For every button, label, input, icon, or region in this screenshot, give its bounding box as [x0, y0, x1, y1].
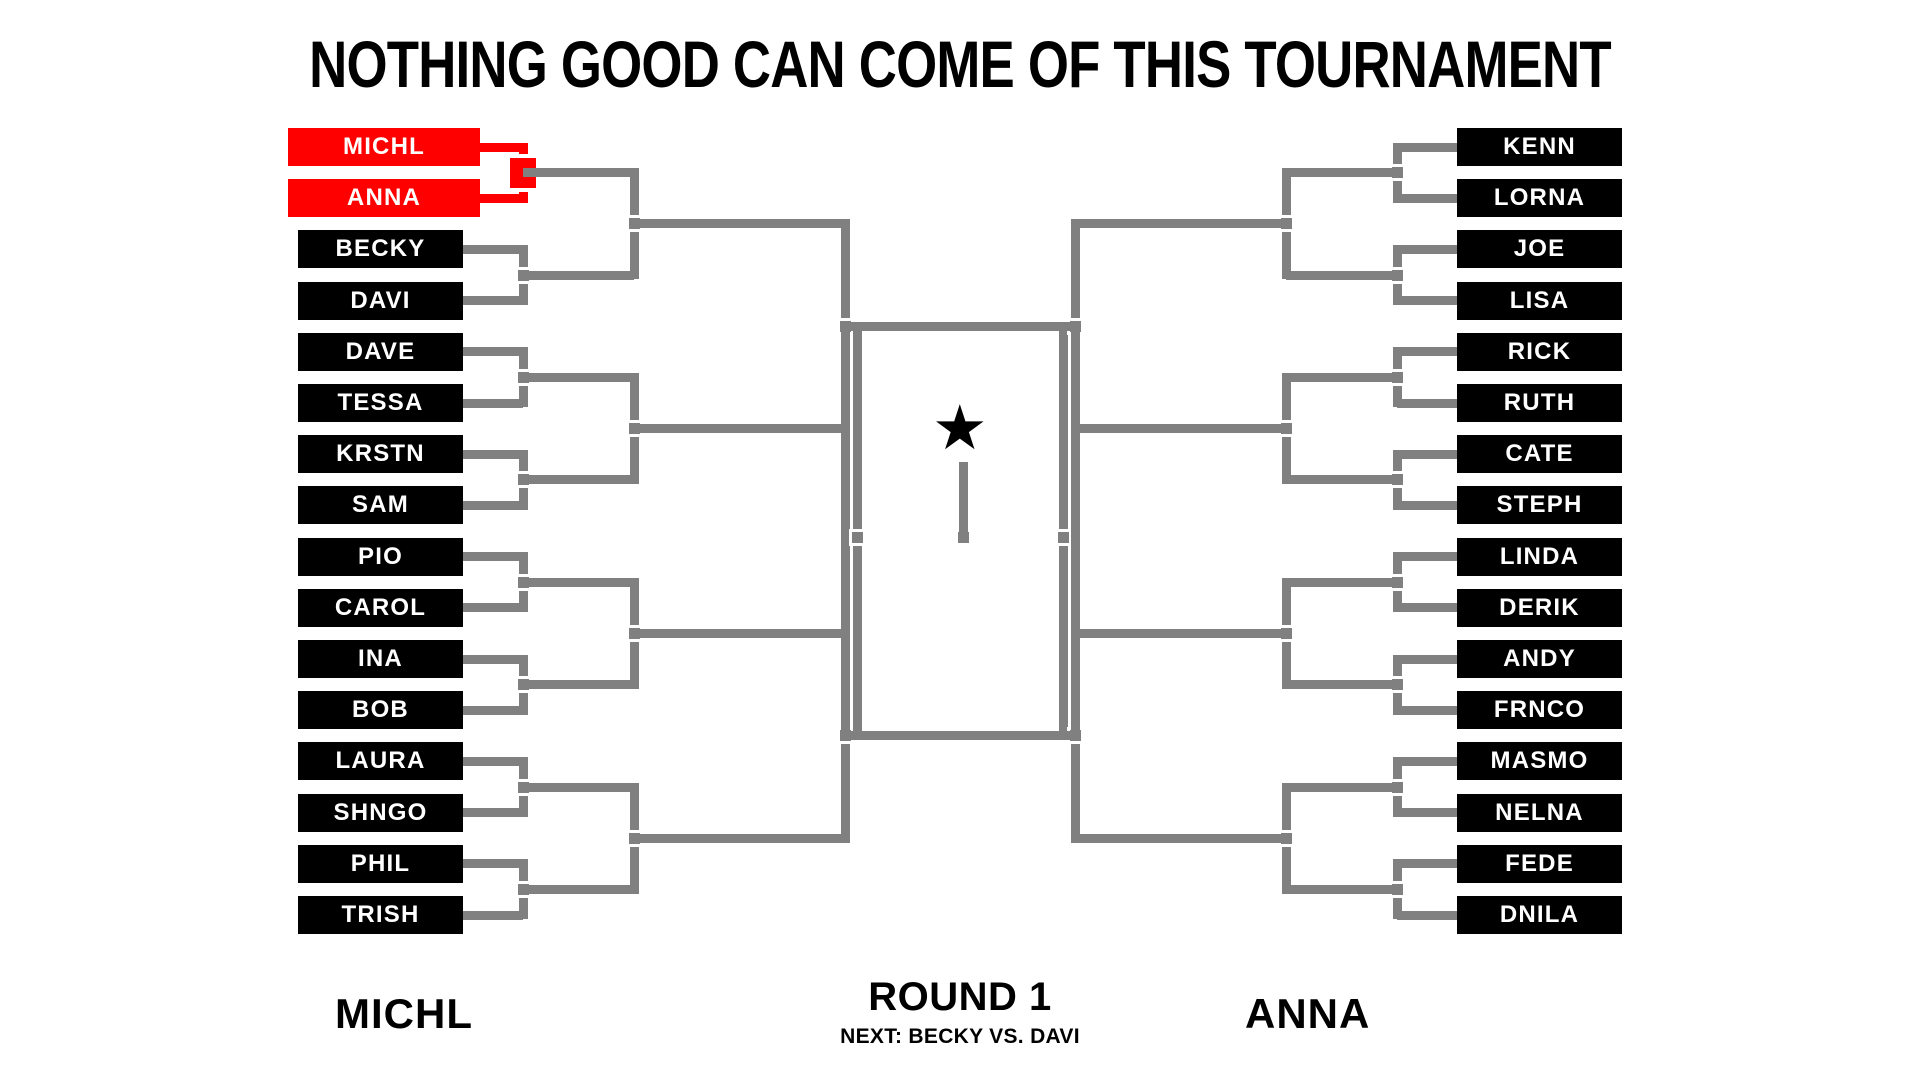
champion-node[interactable]	[958, 532, 969, 543]
bracket-line-horizontal	[1397, 655, 1457, 664]
bracket-line-horizontal	[1397, 347, 1457, 356]
bracket-line-horizontal	[1397, 706, 1457, 715]
bracket-line-horizontal	[1286, 680, 1397, 689]
bracket-line-horizontal	[1286, 271, 1397, 280]
competitor-plate[interactable]: RUTH	[1457, 384, 1622, 422]
page-title: NOTHING GOOD CAN COME OF THIS TOURNAMENT	[192, 30, 1728, 98]
competitor-plate[interactable]: STEPH	[1457, 486, 1622, 524]
bracket-line-horizontal	[523, 373, 634, 382]
bracket-line-horizontal	[463, 808, 523, 817]
competitor-plate[interactable]: SHNGO	[298, 794, 463, 832]
bracket-line-horizontal	[480, 194, 523, 203]
competitor-plate[interactable]: FEDE	[1457, 845, 1622, 883]
bracket-line-horizontal	[1397, 757, 1457, 766]
competitor-plate[interactable]: DAVI	[298, 282, 463, 320]
competitor-plate[interactable]: CAROL	[298, 589, 463, 627]
bracket-line-horizontal	[1397, 552, 1457, 561]
bracket-line-horizontal	[523, 885, 634, 894]
bracket-line-horizontal	[523, 271, 634, 280]
bracket-line-horizontal	[1286, 168, 1397, 177]
competitor-plate[interactable]: JOE	[1457, 230, 1622, 268]
bracket-line-horizontal	[463, 859, 523, 868]
bracket-line-horizontal	[1397, 808, 1457, 817]
tournament-bracket-page: NOTHING GOOD CAN COME OF THIS TOURNAMENT…	[0, 0, 1920, 1080]
bracket-line-horizontal	[463, 552, 523, 561]
bracket-line-horizontal	[463, 399, 523, 408]
bracket-line-horizontal	[463, 655, 523, 664]
bracket-line-horizontal	[1397, 143, 1457, 152]
bracket-line-horizontal	[523, 475, 634, 484]
competitor-plate[interactable]: BOB	[298, 691, 463, 729]
competitor-plate[interactable]: PIO	[298, 538, 463, 576]
bracket-line-horizontal	[463, 757, 523, 766]
competitor-plate[interactable]: TESSA	[298, 384, 463, 422]
competitor-plate[interactable]: MASMO	[1457, 742, 1622, 780]
bracket-line-horizontal	[634, 424, 845, 433]
competitor-plate[interactable]: NELNA	[1457, 794, 1622, 832]
competitor-plate[interactable]: MICHL	[288, 128, 480, 166]
bracket-line-horizontal	[463, 706, 523, 715]
bracket-line-horizontal	[1397, 245, 1457, 254]
bracket-line-horizontal	[1397, 859, 1457, 868]
competitor-plate[interactable]: KRSTN	[298, 435, 463, 473]
bracket-line-horizontal	[1286, 373, 1397, 382]
champion-stem	[959, 462, 968, 533]
bracket-line-horizontal	[1397, 450, 1457, 459]
competitor-plate[interactable]: DERIK	[1457, 589, 1622, 627]
competitor-plate[interactable]: SAM	[298, 486, 463, 524]
bracket-line-horizontal	[857, 731, 1075, 740]
right-finalist-node[interactable]	[852, 532, 863, 543]
bracket-line-horizontal	[634, 219, 845, 228]
competitor-plate[interactable]: FRNCO	[1457, 691, 1622, 729]
bracket-line-horizontal	[1286, 783, 1397, 792]
bracket-line-horizontal	[1397, 194, 1457, 203]
bracket-line-horizontal	[463, 245, 523, 254]
bracket-line-horizontal	[463, 296, 523, 305]
bracket-line-horizontal	[523, 680, 634, 689]
competitor-plate[interactable]: TRISH	[298, 896, 463, 934]
competitor-plate[interactable]: LISA	[1457, 282, 1622, 320]
bracket-line-horizontal	[1075, 834, 1286, 843]
competitor-plate[interactable]: DAVE	[298, 333, 463, 371]
bracket-line-horizontal	[1397, 911, 1457, 920]
competitor-plate[interactable]: LORNA	[1457, 179, 1622, 217]
bracket-line-horizontal	[1397, 296, 1457, 305]
bracket-line-horizontal	[1397, 399, 1457, 408]
bracket-line-horizontal	[463, 911, 523, 920]
competitor-plate[interactable]: LAURA	[298, 742, 463, 780]
bracket-line-horizontal	[523, 783, 634, 792]
bracket-line-horizontal	[480, 143, 523, 152]
star-icon: ★	[932, 398, 988, 460]
competitor-plate[interactable]: LINDA	[1457, 538, 1622, 576]
competitor-plate[interactable]: BECKY	[298, 230, 463, 268]
competitor-plate[interactable]: ANNA	[288, 179, 480, 217]
bracket-line-horizontal	[857, 322, 1075, 331]
bracket-line-horizontal	[463, 450, 523, 459]
competitor-plate[interactable]: KENN	[1457, 128, 1622, 166]
bracket-line-horizontal	[634, 629, 845, 638]
bracket-line-horizontal	[1075, 629, 1286, 638]
bracket-line-horizontal	[463, 347, 523, 356]
bracket-line-vertical	[841, 322, 850, 741]
competitor-plate[interactable]: CATE	[1457, 435, 1622, 473]
bracket-line-horizontal	[523, 168, 634, 177]
bracket-line-horizontal	[463, 603, 523, 612]
bracket-line-horizontal	[1286, 475, 1397, 484]
bracket-line-horizontal	[1286, 885, 1397, 894]
round-label: ROUND 1	[0, 975, 1920, 1020]
bracket-line-vertical	[1071, 322, 1080, 741]
bracket-line-horizontal	[463, 501, 523, 510]
competitor-plate[interactable]: INA	[298, 640, 463, 678]
next-match-label: NEXT: BECKY VS. DAVI	[0, 1025, 1920, 1049]
competitor-plate[interactable]: ANDY	[1457, 640, 1622, 678]
left-finalist-node[interactable]	[1058, 532, 1069, 543]
bracket-line-horizontal	[523, 578, 634, 587]
bracket-line-horizontal	[634, 834, 845, 843]
bracket-line-horizontal	[1397, 501, 1457, 510]
competitor-plate[interactable]: DNILA	[1457, 896, 1622, 934]
competitor-plate[interactable]: RICK	[1457, 333, 1622, 371]
bracket-line-horizontal	[1075, 219, 1286, 228]
bracket-line-horizontal	[1397, 603, 1457, 612]
bracket-line-horizontal	[1075, 424, 1286, 433]
competitor-plate[interactable]: PHIL	[298, 845, 463, 883]
bracket-line-horizontal	[1286, 578, 1397, 587]
